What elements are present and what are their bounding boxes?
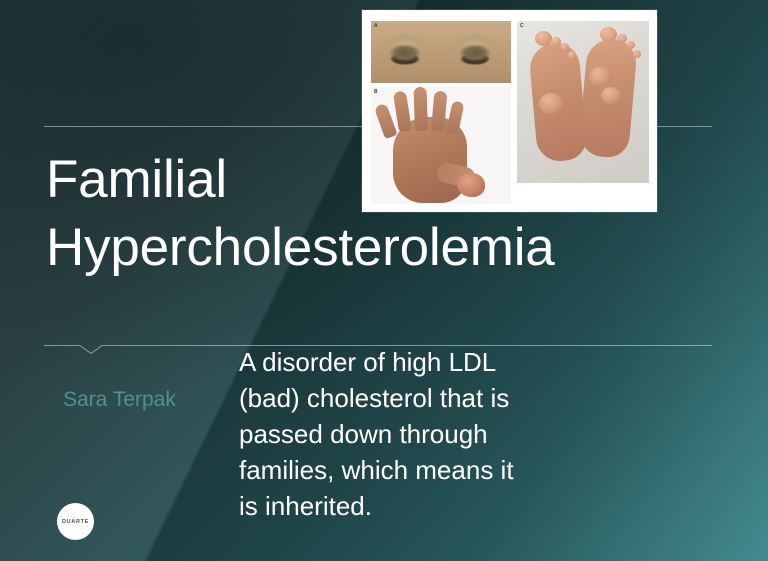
panel-label-c: C <box>520 23 524 29</box>
author-name: Sara Terpak <box>63 386 176 414</box>
toe-right-4 <box>633 50 641 58</box>
toe-left-4 <box>568 51 576 59</box>
finger-index <box>393 90 412 132</box>
xanthoma-sole-right-upper <box>589 67 611 86</box>
slide-subtitle-paragraph: A disorder of high LDL (bad) cholesterol… <box>239 344 539 524</box>
toe-big-left <box>535 31 552 46</box>
toe-big-right <box>600 27 617 42</box>
toe-right-3 <box>626 41 635 49</box>
collage-panel-a-eyes: A <box>371 21 511 83</box>
finger-middle <box>413 87 428 131</box>
toe-right-2 <box>617 34 627 43</box>
duarte-logo-text: DUARTE <box>62 519 89 525</box>
page-title: Familial Hypercholesterolemia <box>46 146 576 282</box>
toe-left-3 <box>560 43 569 51</box>
panel-label-b: B <box>374 89 378 95</box>
duarte-logo-badge: DUARTE <box>57 503 94 540</box>
panel-label-a: A <box>374 23 378 29</box>
presentation-slide: A B C <box>0 0 768 561</box>
xanthoma-sole-left <box>539 93 563 114</box>
xanthoma-sole-right-lower <box>601 87 621 104</box>
finger-thumb-upper <box>374 103 398 139</box>
